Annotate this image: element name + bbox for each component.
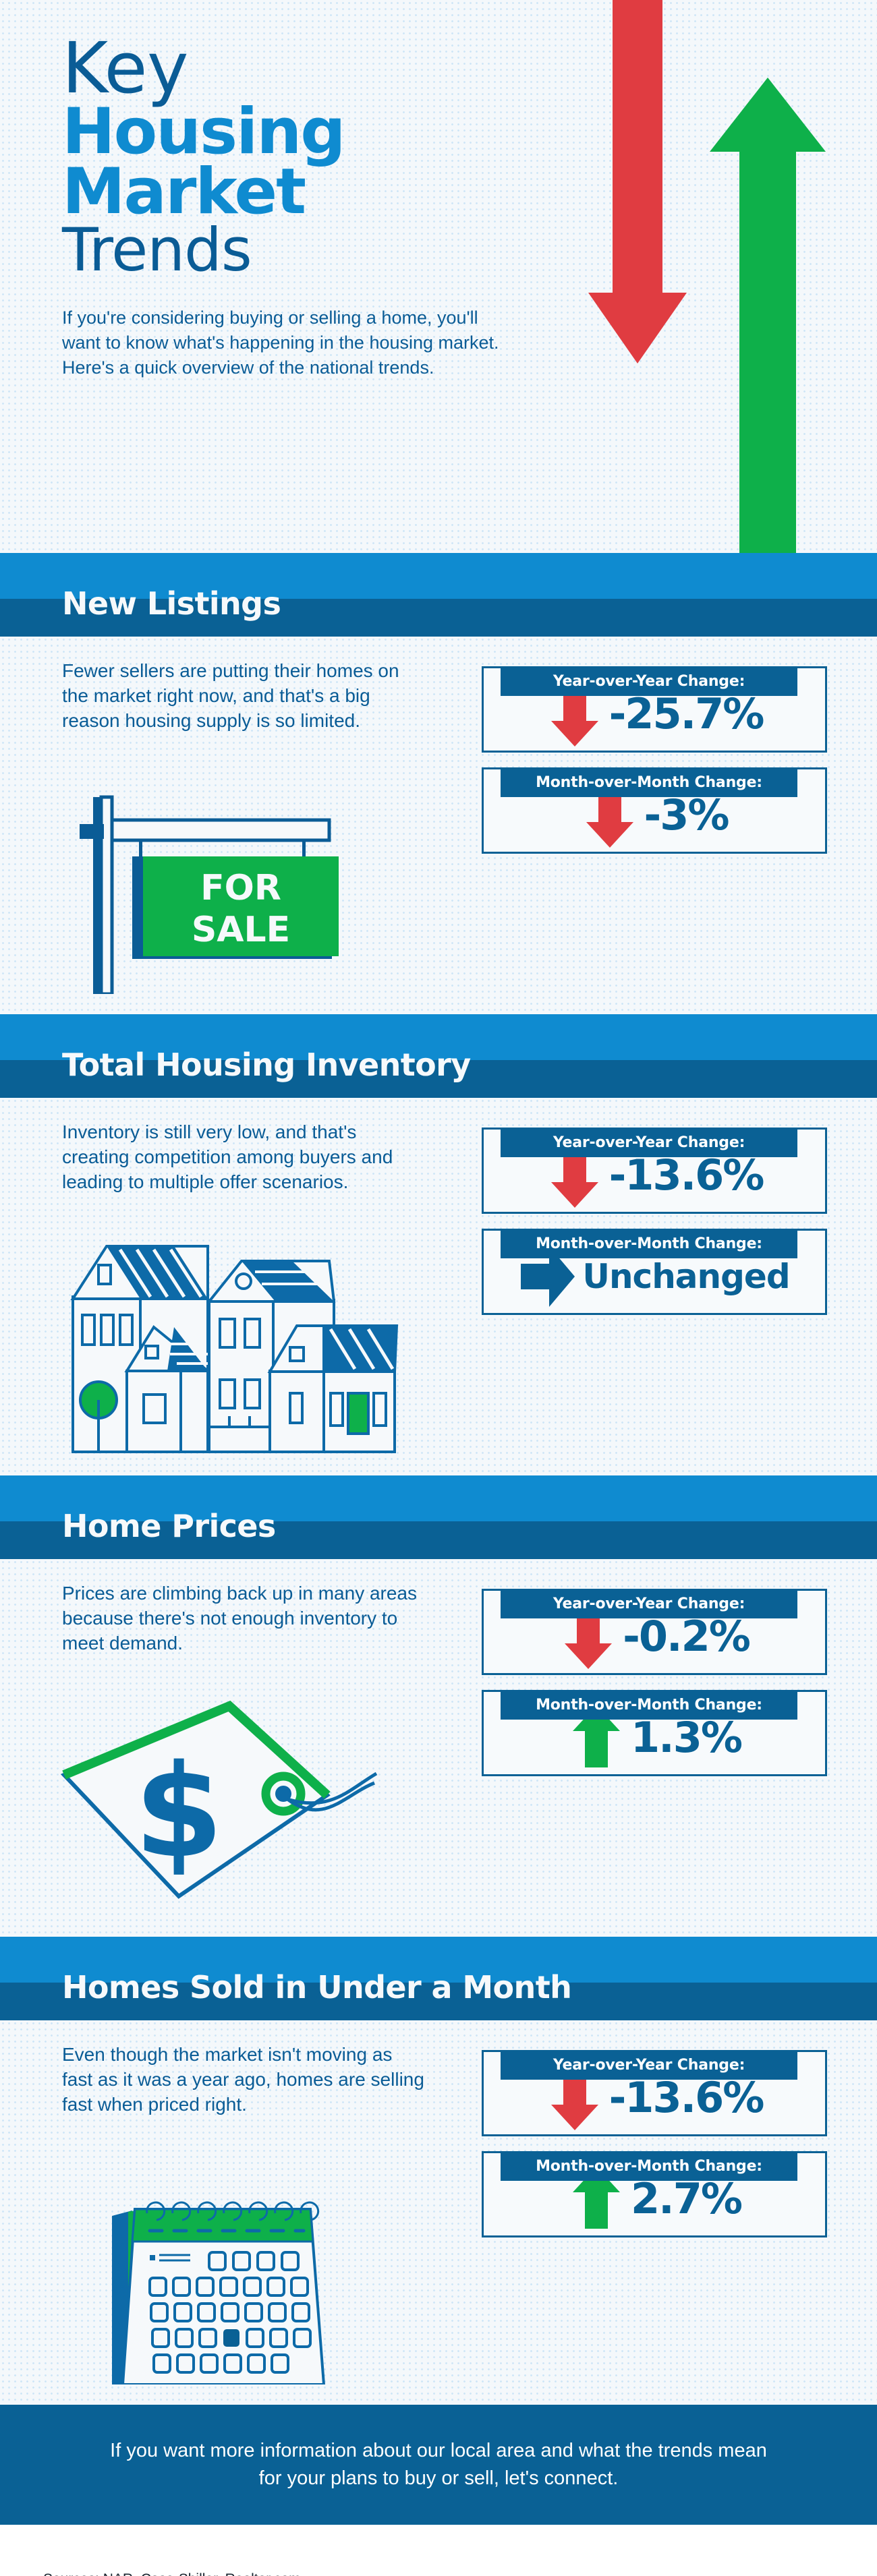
- highlighted-day-cell: [223, 2329, 239, 2347]
- stat-value: Unchanged: [582, 1260, 789, 1293]
- for-sale-sign-icon: FOR SALE: [73, 792, 356, 994]
- infographic-page: Key Housing Market Trends If you're cons…: [0, 0, 877, 2576]
- intro-paragraph: If you're considering buying or selling …: [62, 305, 521, 381]
- stat-label: Month-over-Month Change:: [536, 1697, 762, 1714]
- stat-value: -3%: [644, 794, 729, 836]
- stat-box-mom: Month-over-Month Change: 2.7%: [482, 2151, 827, 2237]
- stats-group: Year-over-Year Change: -13.6% Month-over…: [482, 1113, 827, 1327]
- section-body-text: Even though the market isn't moving as f…: [62, 2042, 426, 2117]
- section-title: Home Prices: [62, 1508, 276, 1544]
- section-total-housing-inventory: Inventory is still very low, and that's …: [0, 1098, 877, 1475]
- stat-label: Year-over-Year Change:: [553, 2057, 745, 2074]
- stat-label: Month-over-Month Change:: [536, 2158, 762, 2175]
- stat-box-yoy: Year-over-Year Change: -25.7%: [482, 666, 827, 753]
- stat-label: Year-over-Year Change:: [553, 673, 745, 690]
- stat-label-tab: Month-over-Month Change:: [501, 1229, 797, 1258]
- section-home-prices: Prices are climbing back up in many area…: [0, 1559, 877, 1937]
- stat-label-tab: Month-over-Month Change:: [501, 1690, 797, 1720]
- section-body-text: Inventory is still very low, and that's …: [62, 1119, 426, 1195]
- stat-box-mom: Month-over-Month Change: 1.3%: [482, 1690, 827, 1776]
- footer-cta-text: If you want more information about our l…: [101, 2437, 776, 2492]
- for-sale-line-2: SALE: [192, 910, 290, 950]
- section-title: New Listings: [62, 585, 281, 622]
- stat-label-tab: Year-over-Year Change:: [501, 2050, 797, 2080]
- stat-box-mom: Month-over-Month Change: Unchanged: [482, 1229, 827, 1315]
- sources-bar: Sources: NAR, Case-Shiller, Realtor.com: [0, 2525, 877, 2576]
- section-new-listings: Fewer sellers are putting their homes on…: [0, 637, 877, 1014]
- stat-label: Year-over-Year Change:: [553, 1134, 745, 1151]
- stats-group: Year-over-Year Change: -13.6% Month-over…: [482, 2035, 827, 2250]
- stat-label-tab: Year-over-Year Change:: [501, 666, 797, 696]
- stat-box-yoy: Year-over-Year Change: -0.2%: [482, 1589, 827, 1675]
- stat-value: -25.7%: [609, 693, 764, 735]
- stat-label: Month-over-Month Change:: [536, 1235, 762, 1252]
- stat-label-tab: Month-over-Month Change:: [501, 2151, 797, 2181]
- desk-calendar-icon: [108, 2182, 337, 2384]
- stat-box-mom: Month-over-Month Change: -3%: [482, 767, 827, 854]
- title-line-market: Market: [62, 162, 575, 222]
- sources-text: Sources: NAR, Case-Shiller, Realtor.com: [43, 2571, 301, 2576]
- hero-section: Key Housing Market Trends If you're cons…: [0, 0, 877, 553]
- section-homes-sold-in-under-a-month: Even though the market isn't moving as f…: [0, 2020, 877, 2405]
- section-band-home-prices: Home Prices: [0, 1475, 877, 1559]
- neighborhood-houses-icon: [53, 1233, 403, 1455]
- stat-value: 1.3%: [631, 1717, 741, 1759]
- stats-group: Year-over-Year Change: -0.2% Month-over-…: [482, 1574, 827, 1788]
- section-title: Homes Sold in Under a Month: [62, 1969, 571, 2006]
- stat-label-tab: Year-over-Year Change:: [501, 1128, 797, 1157]
- stat-label-tab: Month-over-Month Change:: [501, 767, 797, 797]
- footer-cta-band: If you want more information about our l…: [0, 2405, 877, 2525]
- stat-value: -0.2%: [623, 1616, 749, 1658]
- section-body-text: Prices are climbing back up in many area…: [62, 1581, 426, 1656]
- for-sale-line-1: FOR: [200, 868, 281, 908]
- stat-box-yoy: Year-over-Year Change: -13.6%: [482, 1128, 827, 1214]
- title-line-housing: Housing: [62, 102, 575, 162]
- stats-group: Year-over-Year Change: -25.7% Month-over…: [482, 651, 827, 866]
- price-tag-icon: $: [61, 1694, 378, 1910]
- section-band-homes-sold-in-under-a-month: Homes Sold in Under a Month: [0, 1937, 877, 2020]
- stat-label-tab: Year-over-Year Change:: [501, 1589, 797, 1618]
- section-band-total-housing-inventory: Total Housing Inventory: [0, 1014, 877, 1098]
- dollar-sign-glyph: $: [134, 1737, 223, 1886]
- stat-value: 2.7%: [631, 2178, 741, 2220]
- stat-label: Month-over-Month Change:: [536, 774, 762, 791]
- down-arrow-icon: [588, 0, 687, 401]
- section-body-text: Fewer sellers are putting their homes on…: [62, 658, 426, 734]
- title-line-key: Key: [62, 35, 575, 102]
- stat-box-yoy: Year-over-Year Change: -13.6%: [482, 2050, 827, 2136]
- stat-value: -13.6%: [609, 1154, 764, 1196]
- stat-label: Year-over-Year Change:: [553, 1596, 745, 1612]
- up-arrow-icon: [710, 40, 826, 553]
- section-band-new-listings: New Listings: [0, 553, 877, 637]
- section-title: Total Housing Inventory: [62, 1047, 471, 1083]
- title-line-trends: Trends: [62, 222, 575, 279]
- stat-value: -13.6%: [609, 2077, 764, 2119]
